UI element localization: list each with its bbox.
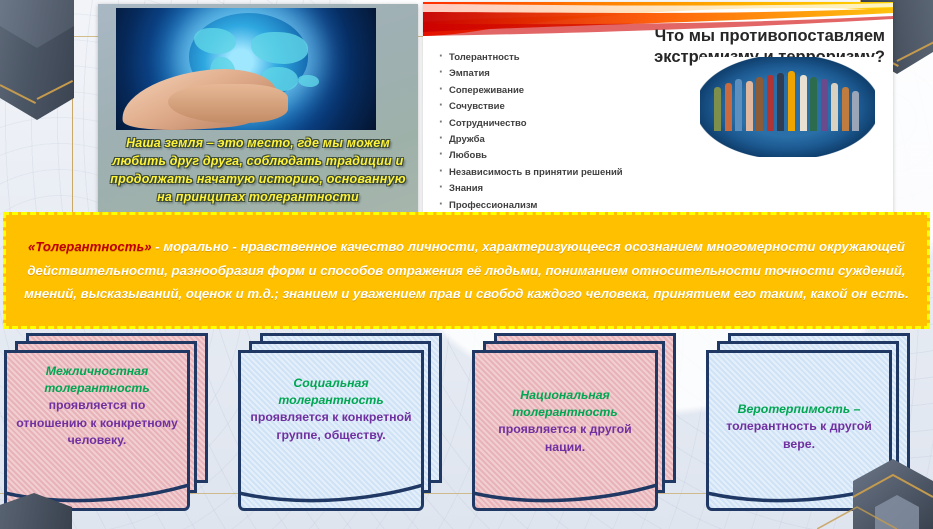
card-stack-3[interactable]: Национальная толерантность проявляется к…: [472, 333, 694, 529]
slide-thumbnail-right[interactable]: Что мы противопоставляем экстремизму и т…: [423, 2, 893, 217]
list-item: Независимость в принятии решений: [437, 165, 767, 181]
card-curved-edge: [475, 483, 655, 509]
card-layer-front: Национальная толерантность проявляется к…: [472, 350, 658, 511]
card-content: Социальная толерантность проявляется к к…: [248, 375, 414, 444]
card-heading: Межличностная толерантность: [14, 363, 180, 397]
definition-body: - морально - нравственное качество лично…: [24, 239, 909, 301]
slide-thumbnail-left[interactable]: Наша земля – это место, где мы можем люб…: [98, 4, 418, 214]
children-on-globe-image: [700, 57, 875, 157]
list-item: Знания: [437, 181, 767, 197]
card-curved-edge: [241, 483, 421, 509]
slide-canvas: Наша земля – это место, где мы можем люб…: [0, 0, 933, 529]
card-layer-front: Межличностная толерантность проявляется …: [4, 350, 190, 511]
card-heading: Национальная толерантность: [482, 387, 648, 421]
card-content: Национальная толерантность проявляется к…: [482, 387, 648, 456]
slide-left-caption: Наша земля – это место, где мы можем люб…: [104, 134, 412, 206]
definition-keyword: «Толерантность»: [28, 239, 152, 254]
tolerance-type-cards: Межличностная толерантность проявляется …: [0, 333, 933, 529]
card-description: проявляется к другой нации.: [482, 421, 648, 456]
definition-banner-text: «Толерантность» - морально - нравственно…: [15, 235, 918, 306]
chevron-decoration-bottom-right-icon: [817, 437, 933, 529]
card-layer-front: Социальная толерантность проявляется к к…: [238, 350, 424, 511]
definition-banner: «Толерантность» - морально - нравственно…: [3, 212, 930, 329]
card-heading: Веротерпимость –: [716, 401, 882, 418]
card-content: Межличностная толерантность проявляется …: [14, 363, 180, 450]
card-description: проявляется к конкретной группе, обществ…: [248, 409, 414, 444]
card-heading: Социальная толерантность: [248, 375, 414, 409]
card-stack-2[interactable]: Социальная толерантность проявляется к к…: [238, 333, 460, 529]
card-description: проявляется по отношению к конкретному ч…: [14, 397, 180, 450]
earth-in-hand-image: [116, 8, 376, 130]
